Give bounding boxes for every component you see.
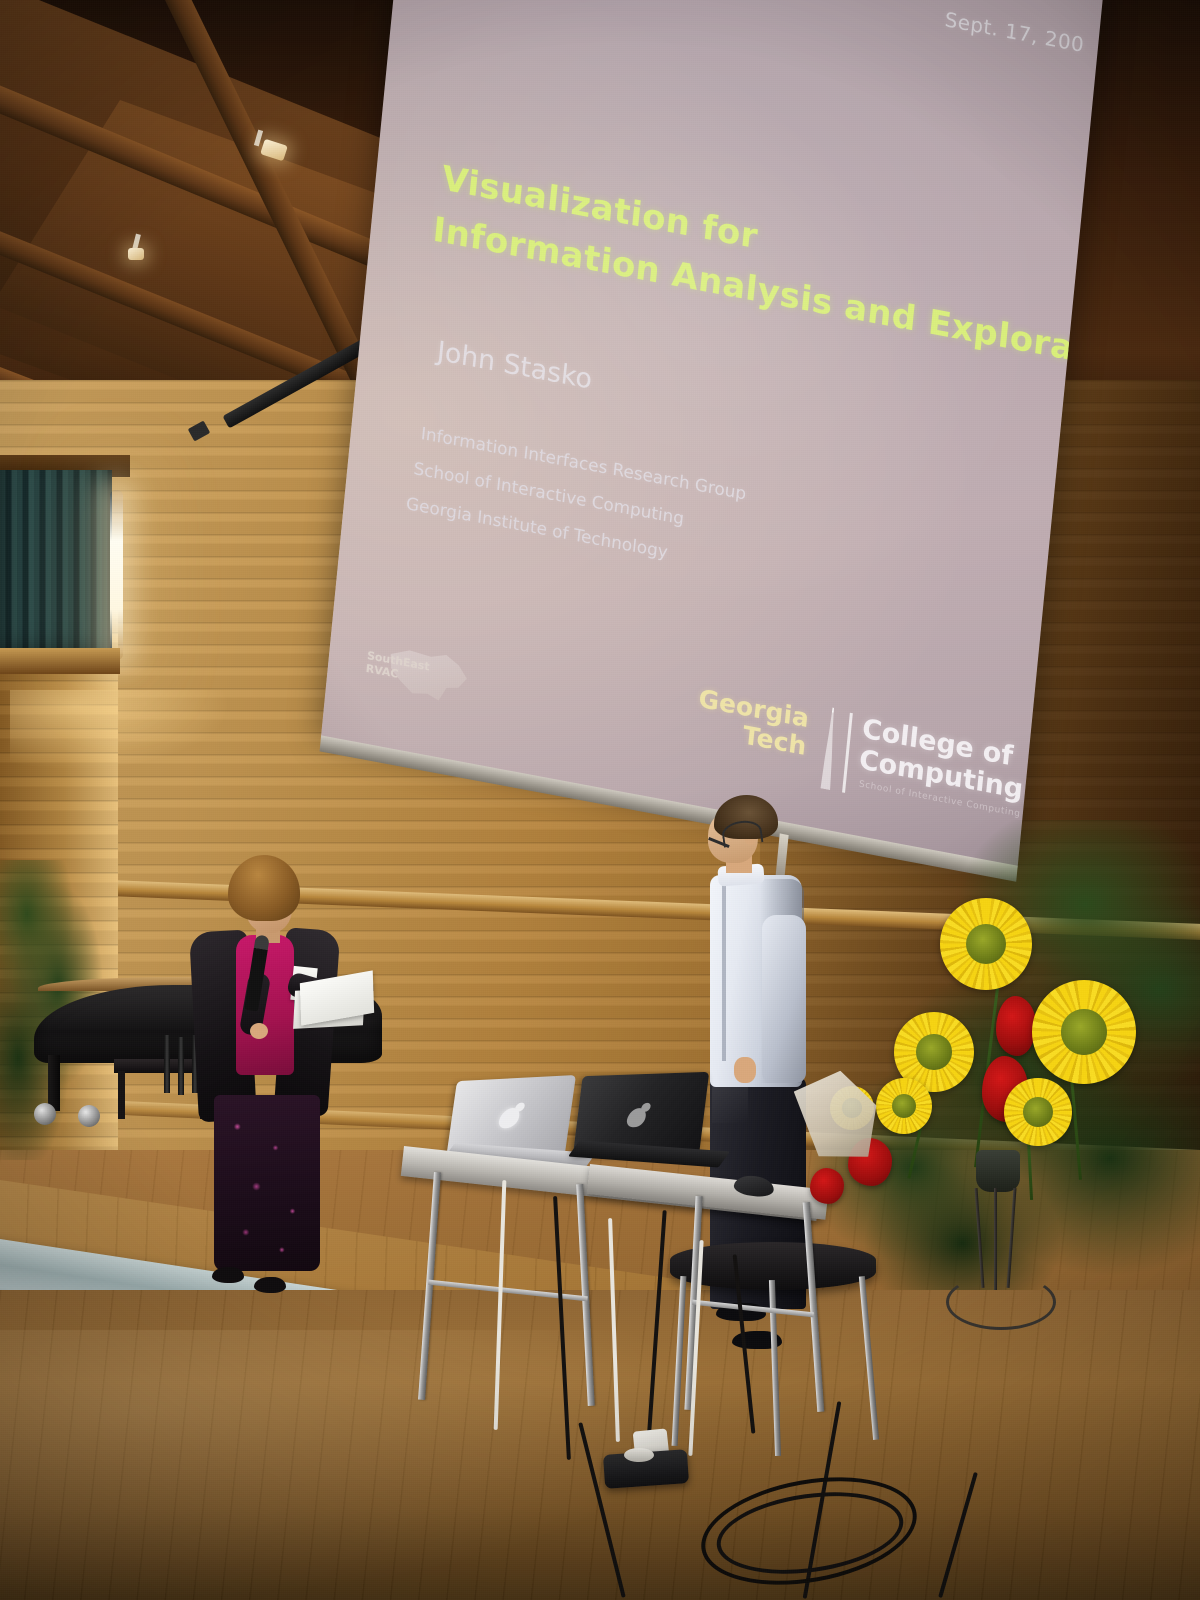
power-cable-black bbox=[733, 1254, 756, 1433]
power-cable-black bbox=[578, 1422, 625, 1598]
power-cable-white bbox=[688, 1240, 703, 1456]
power-cable-white bbox=[608, 1218, 620, 1442]
power-cable-black bbox=[645, 1210, 666, 1460]
presentation-photo-scene: Sept. 17, 200 Visualization for Informat… bbox=[0, 0, 1200, 1600]
power-cable-black bbox=[938, 1472, 978, 1598]
power-cable-white bbox=[494, 1180, 507, 1430]
round-adapter bbox=[624, 1448, 654, 1462]
cable-bundle bbox=[0, 0, 1200, 1600]
power-cable-black bbox=[553, 1196, 571, 1460]
